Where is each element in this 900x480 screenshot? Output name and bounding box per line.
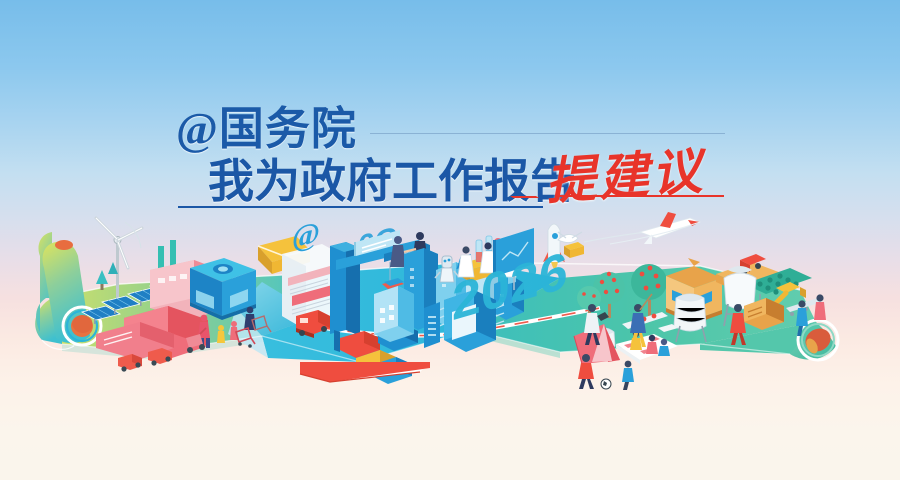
title-blue-rule xyxy=(178,206,543,208)
child-figure xyxy=(622,361,634,390)
worker-figure-3 xyxy=(814,294,826,320)
illustration-scene: @ xyxy=(0,212,900,412)
page-title-accent: 提建议 xyxy=(543,131,707,214)
soccer-ball-icon xyxy=(601,379,611,389)
at-symbol-icon: @ xyxy=(292,215,320,255)
drone-delivery-icon xyxy=(558,232,646,258)
server-rack-icon xyxy=(424,302,440,348)
title-red-rule xyxy=(556,195,724,197)
poster-root: @国务院 我为政府工作报告 提建议 xyxy=(0,0,900,480)
svg-text:@: @ xyxy=(292,215,320,255)
title-block: @国务院 我为政府工作报告 提建议 xyxy=(0,0,900,220)
cargo-ship-icon xyxy=(300,362,430,382)
airplane-icon xyxy=(610,212,700,244)
